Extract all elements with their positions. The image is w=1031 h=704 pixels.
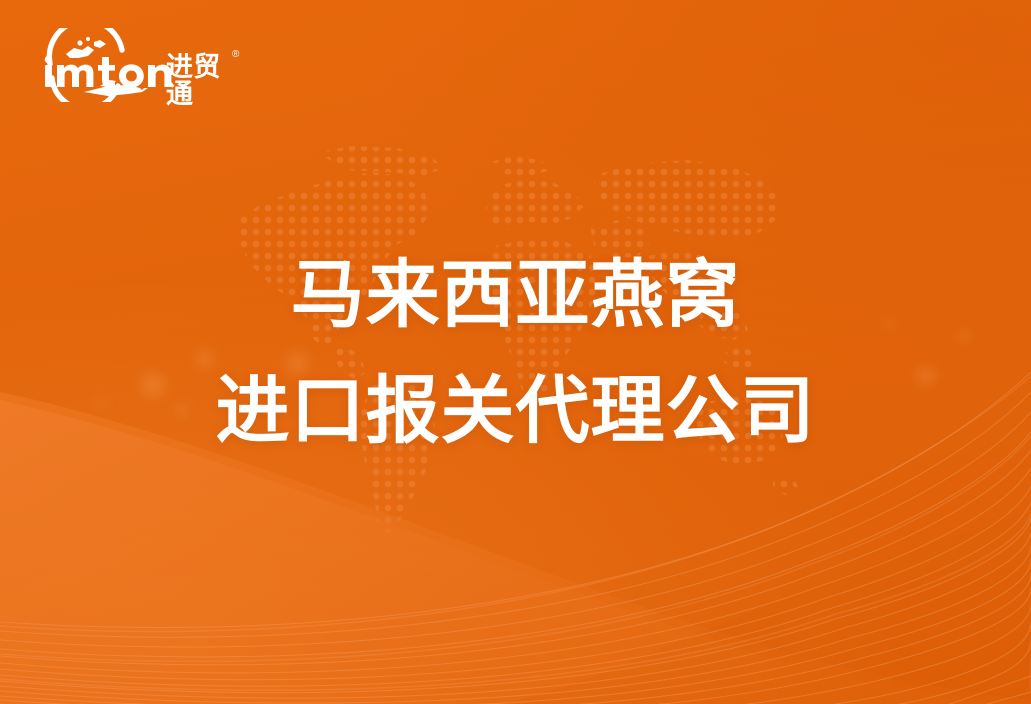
page-title: 马来西亚燕窝 进口报关代理公司 [0,258,1031,448]
title-line-1: 马来西亚燕窝 [0,258,1031,332]
logo-chinese-text: 进贸通 [166,54,236,108]
registered-trademark-icon: ® [232,50,239,60]
title-line-2: 进口报关代理公司 [0,374,1031,448]
brand-logo[interactable]: 进贸通 ® [36,28,236,102]
poster-canvas: 进贸通 ® 马来西亚燕窝 进口报关代理公司 [0,0,1031,704]
